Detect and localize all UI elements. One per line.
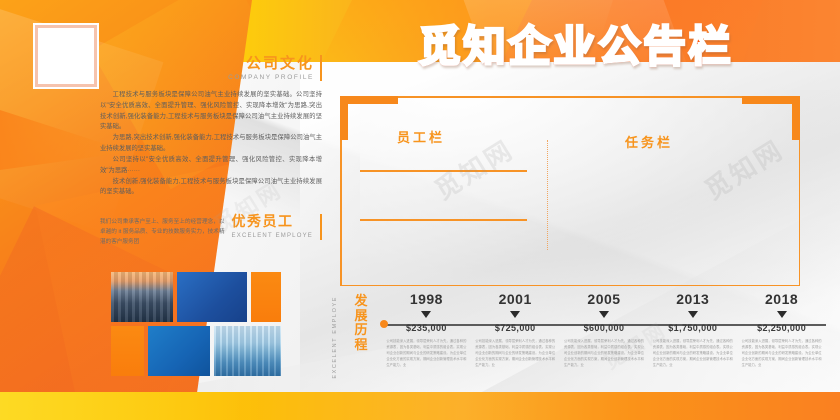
employee-title-en: EXCELENT EMPLOYE	[232, 233, 313, 239]
bottom-yellow-strip	[0, 392, 840, 420]
frame-corner-top-right	[742, 96, 800, 104]
caret-down-icon	[421, 311, 431, 318]
caret-down-icon	[599, 311, 609, 318]
caret-down-icon	[688, 311, 698, 318]
timeline-description: 公司技能深入进展，领导层荣利人才为先，通过各种的资源表，因为各类基础，利益中质感…	[742, 338, 822, 368]
left-content-column: 公司文化 COMPANY PROFILE 工程技术与服务板块是保障公司油气主业持…	[100, 55, 322, 247]
profile-paragraph: 技术创新,强化装备能力,工程技术与服务板块是保障公司油气主业持续发展的坚实基础。	[100, 177, 322, 199]
timeline-event[interactable]: 2001 $725,000 公司技能深入进展，领导层荣利人才为先，通过各种的资源…	[471, 292, 560, 368]
timeline-event[interactable]: 2018 $2,250,000 公司技能深入进展，领导层荣利人才为先，通过各种的…	[737, 292, 826, 368]
timeline-year: 1998	[382, 292, 471, 306]
timeline-amount: $1,750,000	[648, 323, 737, 333]
staff-entry-line	[360, 219, 527, 221]
timeline-amount: $725,000	[471, 323, 560, 333]
frame-bottom-line	[340, 285, 800, 287]
caret-down-icon	[777, 311, 787, 318]
timeline-description: 公司技能深入进展，领导层荣利人才为先，通过各种的资源表，因为各类基础，利益中质感…	[564, 338, 644, 368]
staff-entry-line	[360, 170, 527, 172]
photo-gallery	[111, 272, 311, 376]
timeline-amount: $2,250,000	[737, 323, 826, 333]
photo-row	[111, 272, 311, 322]
column-heading-tasks: 任务栏	[625, 132, 673, 151]
timeline-amount: $235,000	[382, 323, 471, 333]
bulletin-frame: 员工栏 任务栏	[340, 96, 800, 286]
timeline-items: 1998 $235,000 公司技能深入进展，领导层荣利人才为先，通过各种的资源…	[382, 292, 826, 368]
frame-corner-top-left	[340, 96, 398, 104]
company-profile-title-en: COMPANY PROFILE	[228, 74, 314, 81]
timeline-label-cn: 发展历程	[350, 294, 372, 352]
timeline-amount: $600,000	[560, 323, 649, 333]
timeline-event[interactable]: 2013 $1,750,000 公司技能深入进展，领导层荣利人才为先，通过各种的…	[648, 292, 737, 368]
profile-paragraph: 工程技术与服务板块是保障公司油气主业持续发展的坚实基础。公司坚持以"安全优质高效…	[100, 90, 322, 133]
poster-canvas: 公司文化 COMPANY PROFILE 工程技术与服务板块是保障公司油气主业持…	[0, 0, 840, 420]
company-profile-title-cn: 公司文化	[228, 56, 314, 73]
timeline-description: 公司技能深入进展，领导层荣利人才为先，通过各种的资源表，因为各类基础，利益中质感…	[653, 338, 733, 368]
city-skyline-sunset-photo[interactable]	[111, 272, 173, 322]
employee-body-text: 我们公司秉承客户至上、服务至上的经营理念，以卓越的 it 服务品质、专业的技数服…	[100, 214, 225, 247]
column-divider	[547, 140, 548, 250]
photo-row	[111, 326, 311, 376]
timeline-year: 2005	[560, 292, 649, 306]
timeline-event[interactable]: 1998 $235,000 公司技能深入进展，领导层荣利人才为先，通过各种的资源…	[382, 292, 471, 368]
timeline-year: 2018	[737, 292, 826, 306]
poster-title-wrap: 觅知企业公告栏	[356, 26, 796, 68]
profile-paragraph: 公司坚持以"安全优质高效、全面提升管理、强化风险管控、实现降本增效"为思路···…	[100, 155, 322, 177]
city-skyline-waterfront-photo[interactable]	[214, 326, 281, 376]
company-profile-body: 工程技术与服务板块是保障公司油气主业持续发展的坚实基础。公司坚持以"安全优质高效…	[100, 90, 322, 198]
employee-title-cn: 优秀员工	[232, 214, 313, 229]
blue-block-tile[interactable]	[148, 326, 210, 376]
blue-block-tile[interactable]	[177, 272, 247, 322]
excellent-employee-heading: 我们公司秉承客户至上、服务至上的经营理念，以卓越的 it 服务品质、专业的技数服…	[100, 214, 322, 247]
orange-block-tile[interactable]	[251, 272, 281, 322]
timeline-description: 公司技能深入进展，领导层荣利人才为先，通过各种的资源表，因为各类基础，利益中质感…	[475, 338, 555, 368]
timeline-year: 2013	[648, 292, 737, 306]
development-timeline: EXCELENT EMPLOYE 发展历程 1998 $235,000 公司技能…	[332, 292, 832, 388]
company-profile-heading: 公司文化 COMPANY PROFILE	[100, 55, 322, 81]
poster-title: 觅知企业公告栏	[356, 26, 796, 68]
caret-down-icon	[510, 311, 520, 318]
profile-paragraph: 为思路,突出技术创新,强化装备能力,工程技术与服务板块是保障公司油气主业持续发展…	[100, 133, 322, 155]
timeline-year: 2001	[471, 292, 560, 306]
logo-placeholder[interactable]	[35, 25, 97, 87]
frame-top-line	[356, 96, 784, 98]
heading-accent-bar	[320, 214, 322, 240]
timeline-event[interactable]: 2005 $600,000 公司技能深入进展，领导层荣利人才为先，通过各种的资源…	[560, 292, 649, 368]
heading-accent-bar	[320, 55, 322, 81]
timeline-label-en: EXCELENT EMPLOYE	[332, 296, 338, 379]
column-heading-staff: 员工栏	[397, 127, 445, 146]
timeline-description: 公司技能深入进展，领导层荣利人才为先，通过各种的资源表，因为各类基础，利益中质感…	[386, 338, 466, 368]
orange-block-tile[interactable]	[111, 326, 144, 376]
